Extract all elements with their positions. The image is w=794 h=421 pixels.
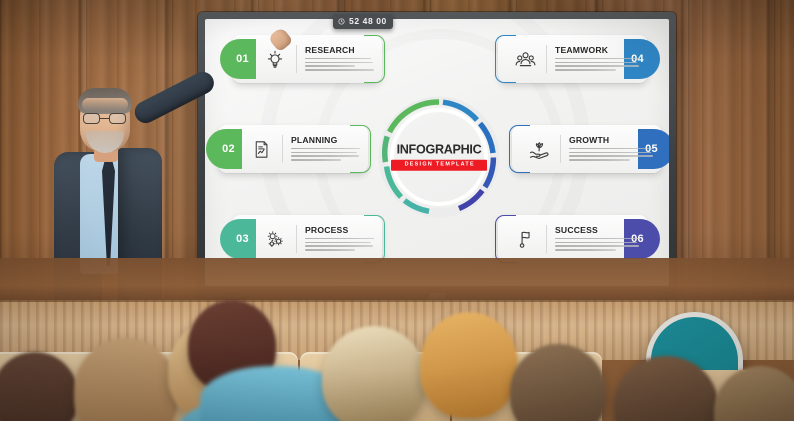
audience-head xyxy=(614,356,718,421)
document-chart-icon xyxy=(244,132,278,166)
audience-head xyxy=(74,338,178,421)
timer-badge[interactable]: 52 48 00 xyxy=(333,14,393,29)
card-badge-03: 03 xyxy=(220,219,256,259)
display-screen[interactable]: INFOGRAPHIC DESIGN TEMPLATE 01 xyxy=(205,19,669,286)
ring-segment-green-2 xyxy=(385,137,387,163)
flag-icon xyxy=(508,222,542,256)
timer-value: 52 48 00 xyxy=(349,16,387,26)
lecture-room-scene: INFOGRAPHIC DESIGN TEMPLATE 01 xyxy=(0,0,794,421)
card-teamwork[interactable]: 04 TEAMWORK xyxy=(498,35,648,83)
card-title-planning: PLANNING xyxy=(291,135,360,145)
card-badge-01: 01 xyxy=(220,39,256,79)
audience-head xyxy=(510,344,606,421)
card-body: PLANNING xyxy=(282,135,368,162)
audience-head xyxy=(0,352,78,421)
audience xyxy=(0,296,794,421)
card-title-process: PROCESS xyxy=(305,225,374,235)
card-description: Lorem ipsum dolor sit amet, consectetur … xyxy=(305,58,374,71)
card-body: PROCESS xyxy=(296,225,382,252)
people-group-icon xyxy=(508,42,542,76)
card-title-research: RESEARCH xyxy=(305,45,374,55)
card-growth[interactable]: 05 GROWTH xyxy=(512,125,662,173)
center-ring: INFOGRAPHIC DESIGN TEMPLATE xyxy=(373,91,505,223)
card-planning[interactable]: 02 PLANNING xyxy=(218,125,368,173)
card-process[interactable]: 03 PROCESS xyxy=(232,215,382,263)
presenter-hair xyxy=(78,88,132,114)
audience-head xyxy=(420,312,518,418)
audience-head xyxy=(714,366,794,421)
card-badge-02: 02 xyxy=(206,129,242,169)
hand-plant-icon xyxy=(522,132,556,166)
center-text-block: INFOGRAPHIC DESIGN TEMPLATE xyxy=(391,144,487,171)
audience-head xyxy=(322,326,426,421)
card-body: RESEARCH Lorem ipsum dolor sit amet, con… xyxy=(296,45,382,72)
infographic-subtitle: DESIGN TEMPLATE xyxy=(391,159,487,170)
card-research[interactable]: 01 RESEARCH Lorem ipsum dolor sit amet, … xyxy=(232,35,382,83)
infographic-title: INFOGRAPHIC xyxy=(391,144,487,157)
card-description xyxy=(291,148,360,161)
card-description xyxy=(305,238,374,251)
infographic-slide: INFOGRAPHIC DESIGN TEMPLATE 01 xyxy=(205,19,669,286)
card-success[interactable]: 06 SUCCESS xyxy=(498,215,648,263)
gears-icon xyxy=(258,222,292,256)
presenter-glasses xyxy=(82,113,128,124)
clock-icon xyxy=(338,18,345,25)
